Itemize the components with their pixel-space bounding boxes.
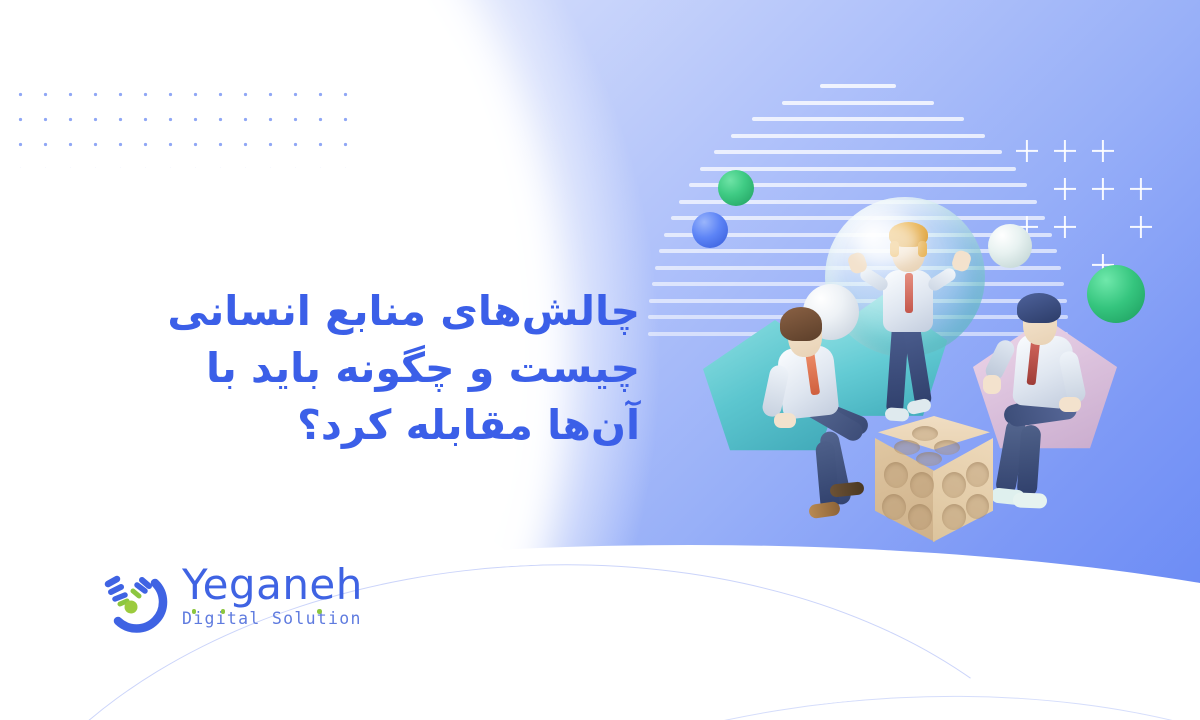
- cube-dimple: [912, 426, 938, 441]
- cube-dimple: [934, 440, 960, 455]
- character-seated-right: [985, 293, 1125, 543]
- headline-line-3: آن‌ها مقابله کرد؟: [100, 397, 640, 454]
- cube-dimple: [894, 440, 920, 455]
- logo-name: Yeganeh: [182, 564, 363, 606]
- bubble-highlight: [855, 220, 921, 264]
- logo-tagline: Digital Solution: [182, 611, 363, 628]
- headline-line-1: چالش‌های منابع انسانی: [100, 283, 640, 340]
- character-seated-left: [752, 313, 892, 543]
- cube-dimple: [916, 452, 942, 466]
- small-green-sphere: [718, 170, 754, 206]
- logo-tagline-text: Digital Solution: [182, 609, 362, 628]
- logo-text-block: Yeganeh Digital Solution: [182, 564, 363, 628]
- yeganeh-swoosh-arc-mark: [100, 566, 174, 644]
- dot-grid-pattern: [8, 82, 353, 168]
- beige-dotted-cube: [872, 416, 997, 551]
- brand-logo[interactable]: Yeganeh Digital Solution: [100, 562, 360, 654]
- tagline-dot-i3: [317, 609, 322, 614]
- tagline-dot-i1: [192, 609, 197, 614]
- tagline-dot-i2: [221, 609, 226, 614]
- banner-root: چالش‌های منابع انسانی چیست و چگونه باید …: [0, 0, 1200, 720]
- white-sphere-upper: [988, 224, 1032, 268]
- small-blue-sphere: [692, 212, 728, 248]
- 3d-business-team-illustration: [640, 60, 1200, 600]
- page-title: چالش‌های منابع انسانی چیست و چگونه باید …: [100, 283, 640, 454]
- headline-line-2: چیست و چگونه باید با: [100, 340, 640, 397]
